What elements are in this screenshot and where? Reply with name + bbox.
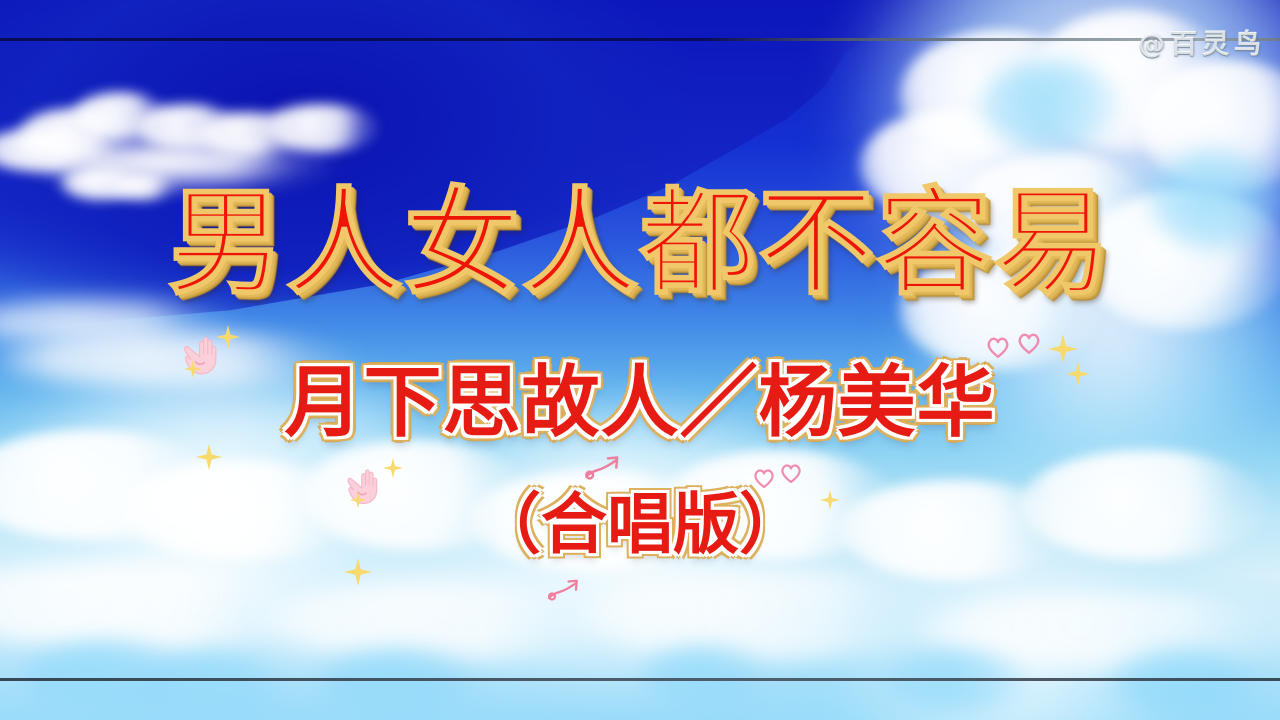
title-card-stage: @百灵鸟 男人女人都不容易 [0,0,1280,720]
channel-watermark: @百灵鸟 [1138,22,1266,61]
